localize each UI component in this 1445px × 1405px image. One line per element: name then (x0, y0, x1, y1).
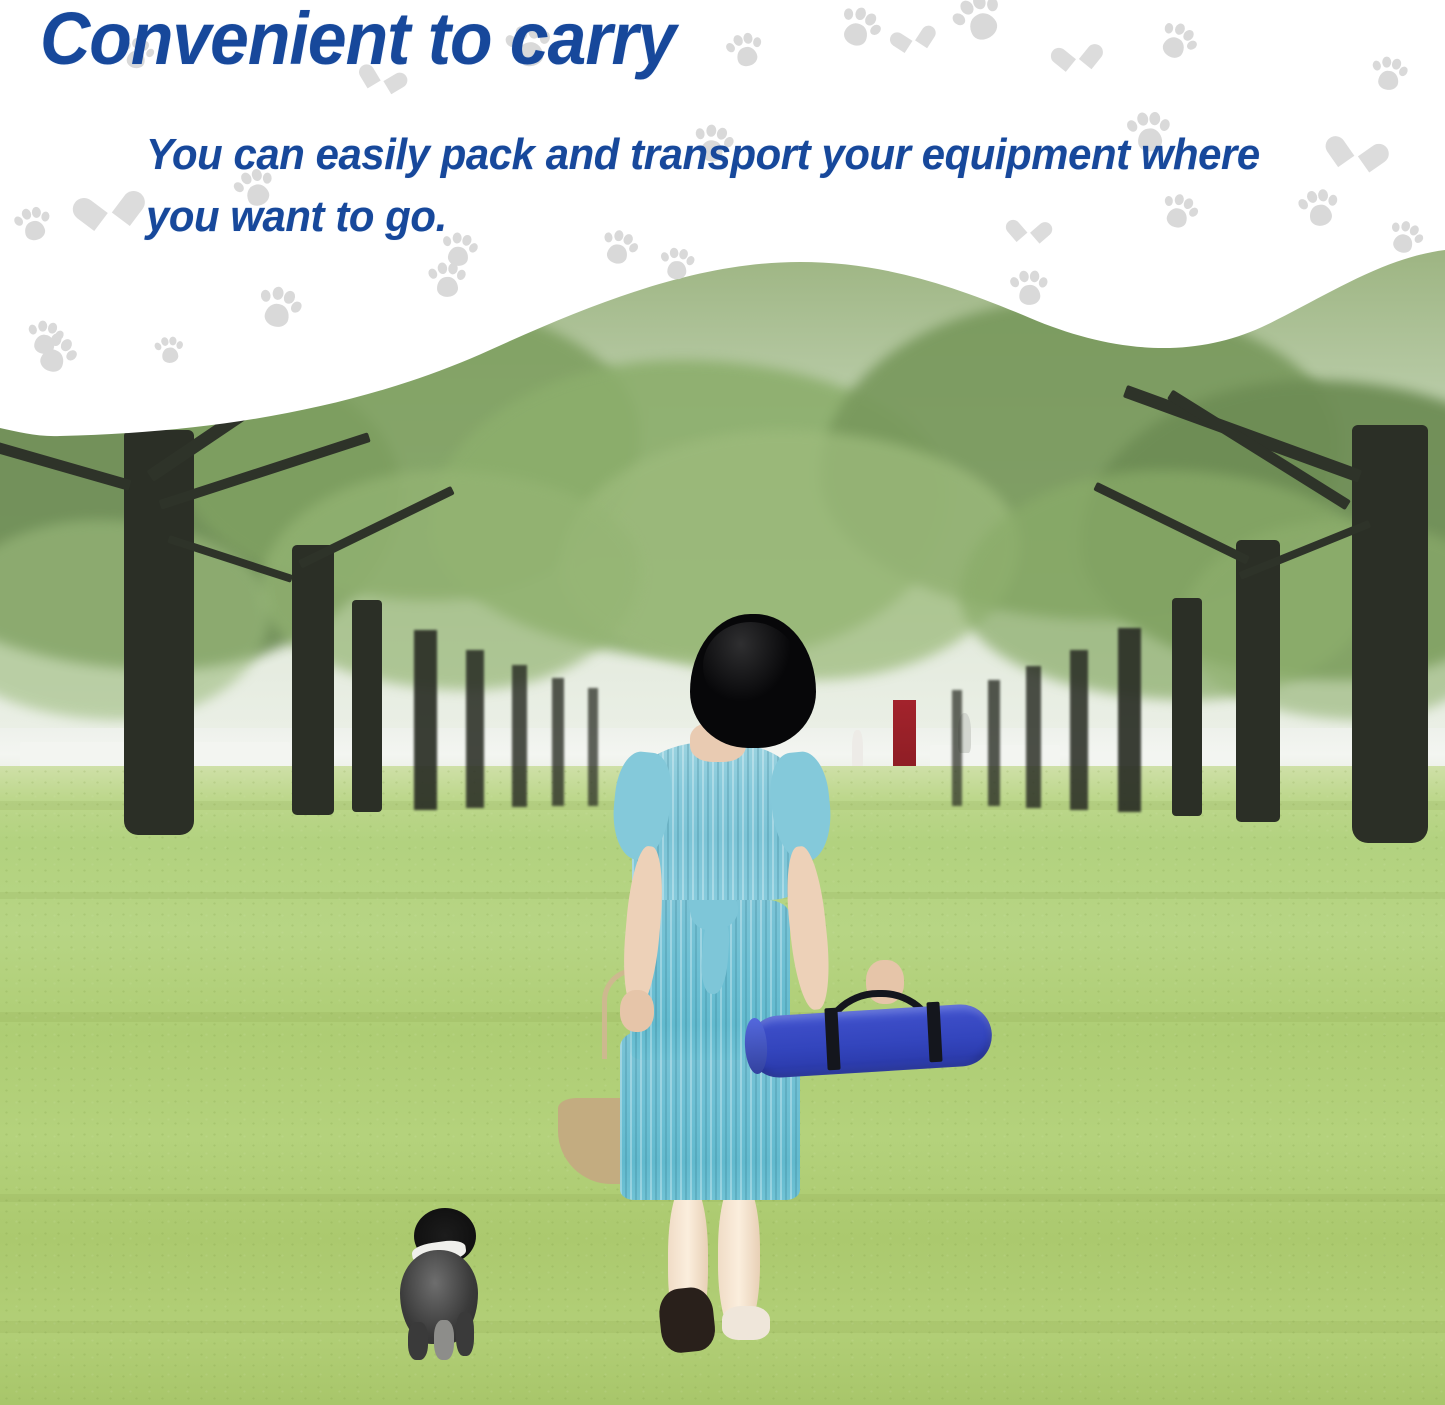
heart-icon (1060, 40, 1093, 70)
hair-highlight (703, 622, 799, 710)
page-title: Convenient to carry (40, 2, 675, 76)
dog-leg (456, 1312, 474, 1356)
hand-left (620, 990, 654, 1032)
dog-leg (408, 1322, 428, 1360)
hair-bob (690, 614, 816, 748)
paw-print-icon (152, 333, 189, 367)
shoe-left (657, 1285, 717, 1354)
paw-print-icon (1368, 54, 1412, 94)
heart-icon (85, 185, 132, 228)
heart-icon (1336, 132, 1379, 171)
page-subtitle: You can easily pack and transport your e… (146, 124, 1315, 247)
shoe-right (722, 1306, 770, 1340)
paw-print-icon (1007, 267, 1053, 309)
dog-leg (434, 1320, 454, 1360)
paw-print-icon (426, 260, 471, 301)
paw-print-icon (658, 246, 697, 282)
product-feature-banner: Convenient to carry You can easily pack … (0, 0, 1445, 1405)
